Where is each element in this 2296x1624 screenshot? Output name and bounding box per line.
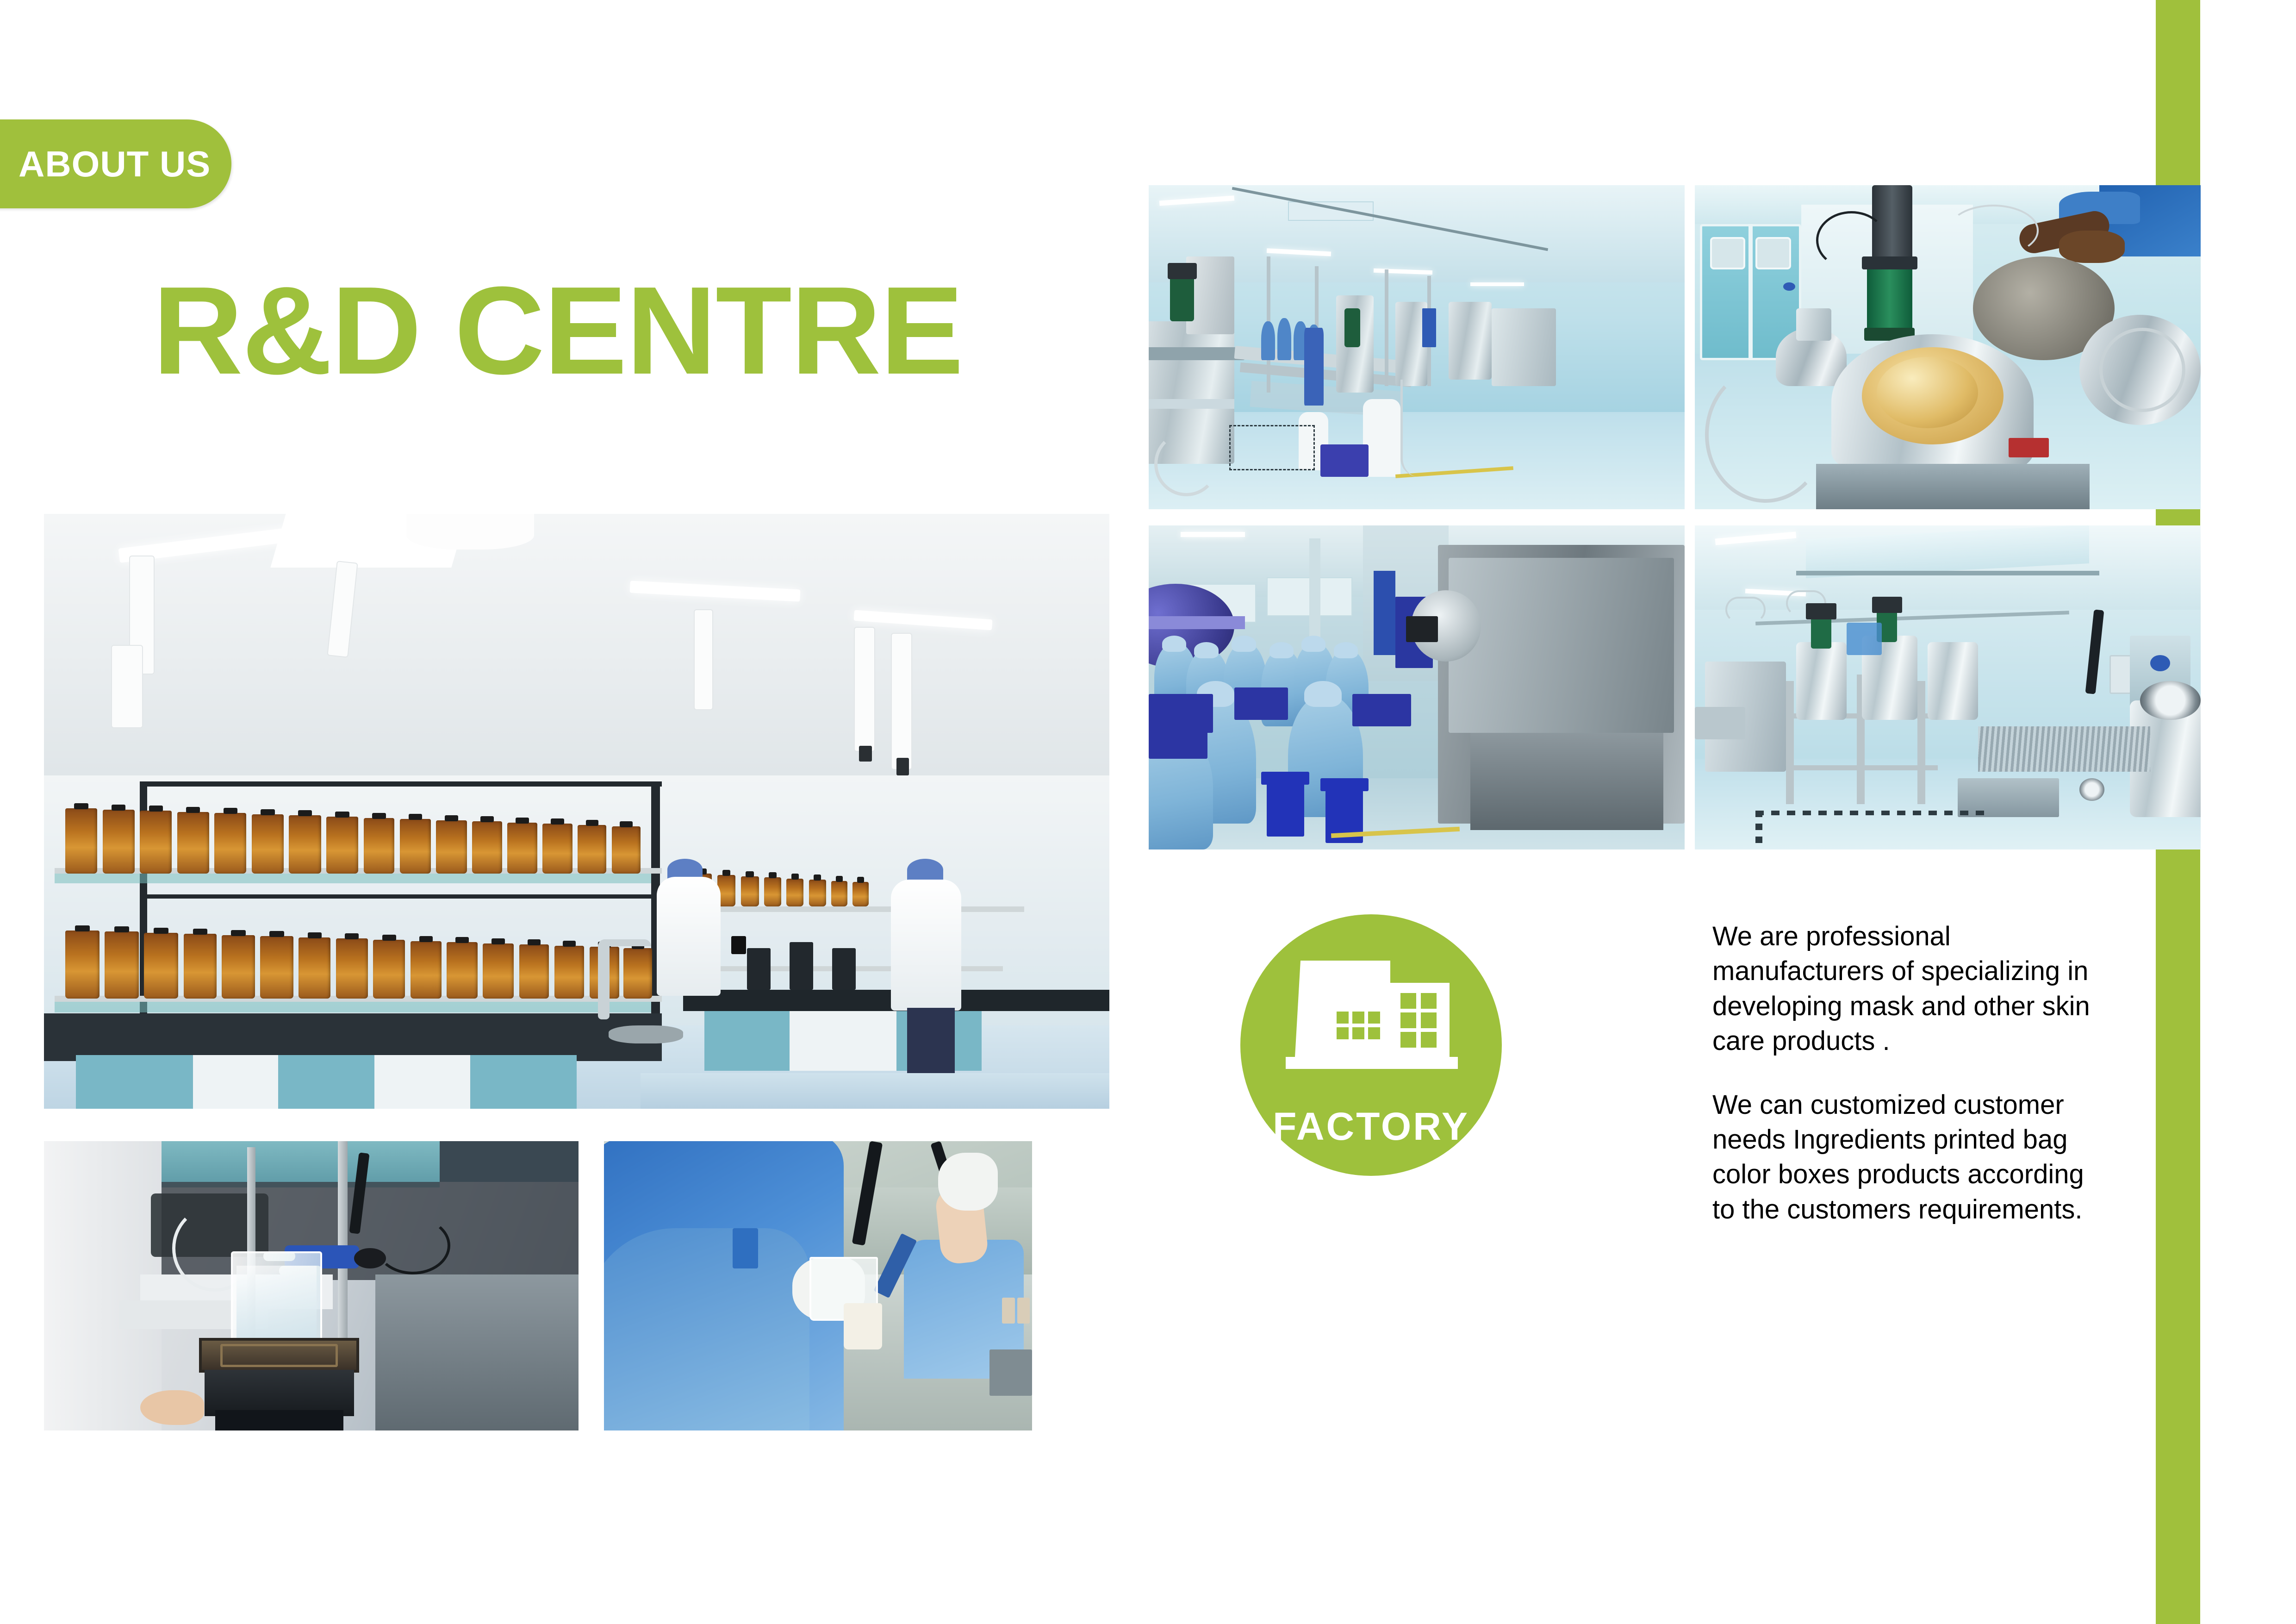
- photo-cleanroom-production: [1149, 185, 1685, 509]
- about-paragraph-2: We can customized customer needs Ingredi…: [1712, 1087, 2110, 1227]
- factory-badge-label: FACTORY: [1240, 1104, 1502, 1149]
- photo-mixing-vessel: [1695, 185, 2201, 509]
- about-us-page: ABOUT US R&D CENTRE: [0, 0, 2296, 1624]
- page-title: R&D CENTRE: [153, 269, 963, 394]
- photo-technicians-pipetting: [604, 1141, 1032, 1430]
- about-us-tab-label: ABOUT US: [19, 143, 211, 185]
- factory-icon: [1281, 947, 1462, 1081]
- photo-beaker-heating: [44, 1141, 579, 1430]
- photo-packing-line-workers: [1149, 525, 1685, 849]
- about-paragraph-1: We are professional manufacturers of spe…: [1712, 919, 2110, 1059]
- photo-emulsifying-tanks: [1695, 525, 2201, 849]
- photo-laboratory-main: [44, 514, 1109, 1109]
- about-us-tab[interactable]: ABOUT US: [0, 119, 231, 208]
- about-copy-block: We are professional manufacturers of spe…: [1712, 919, 2110, 1227]
- factory-badge: FACTORY: [1240, 914, 1502, 1176]
